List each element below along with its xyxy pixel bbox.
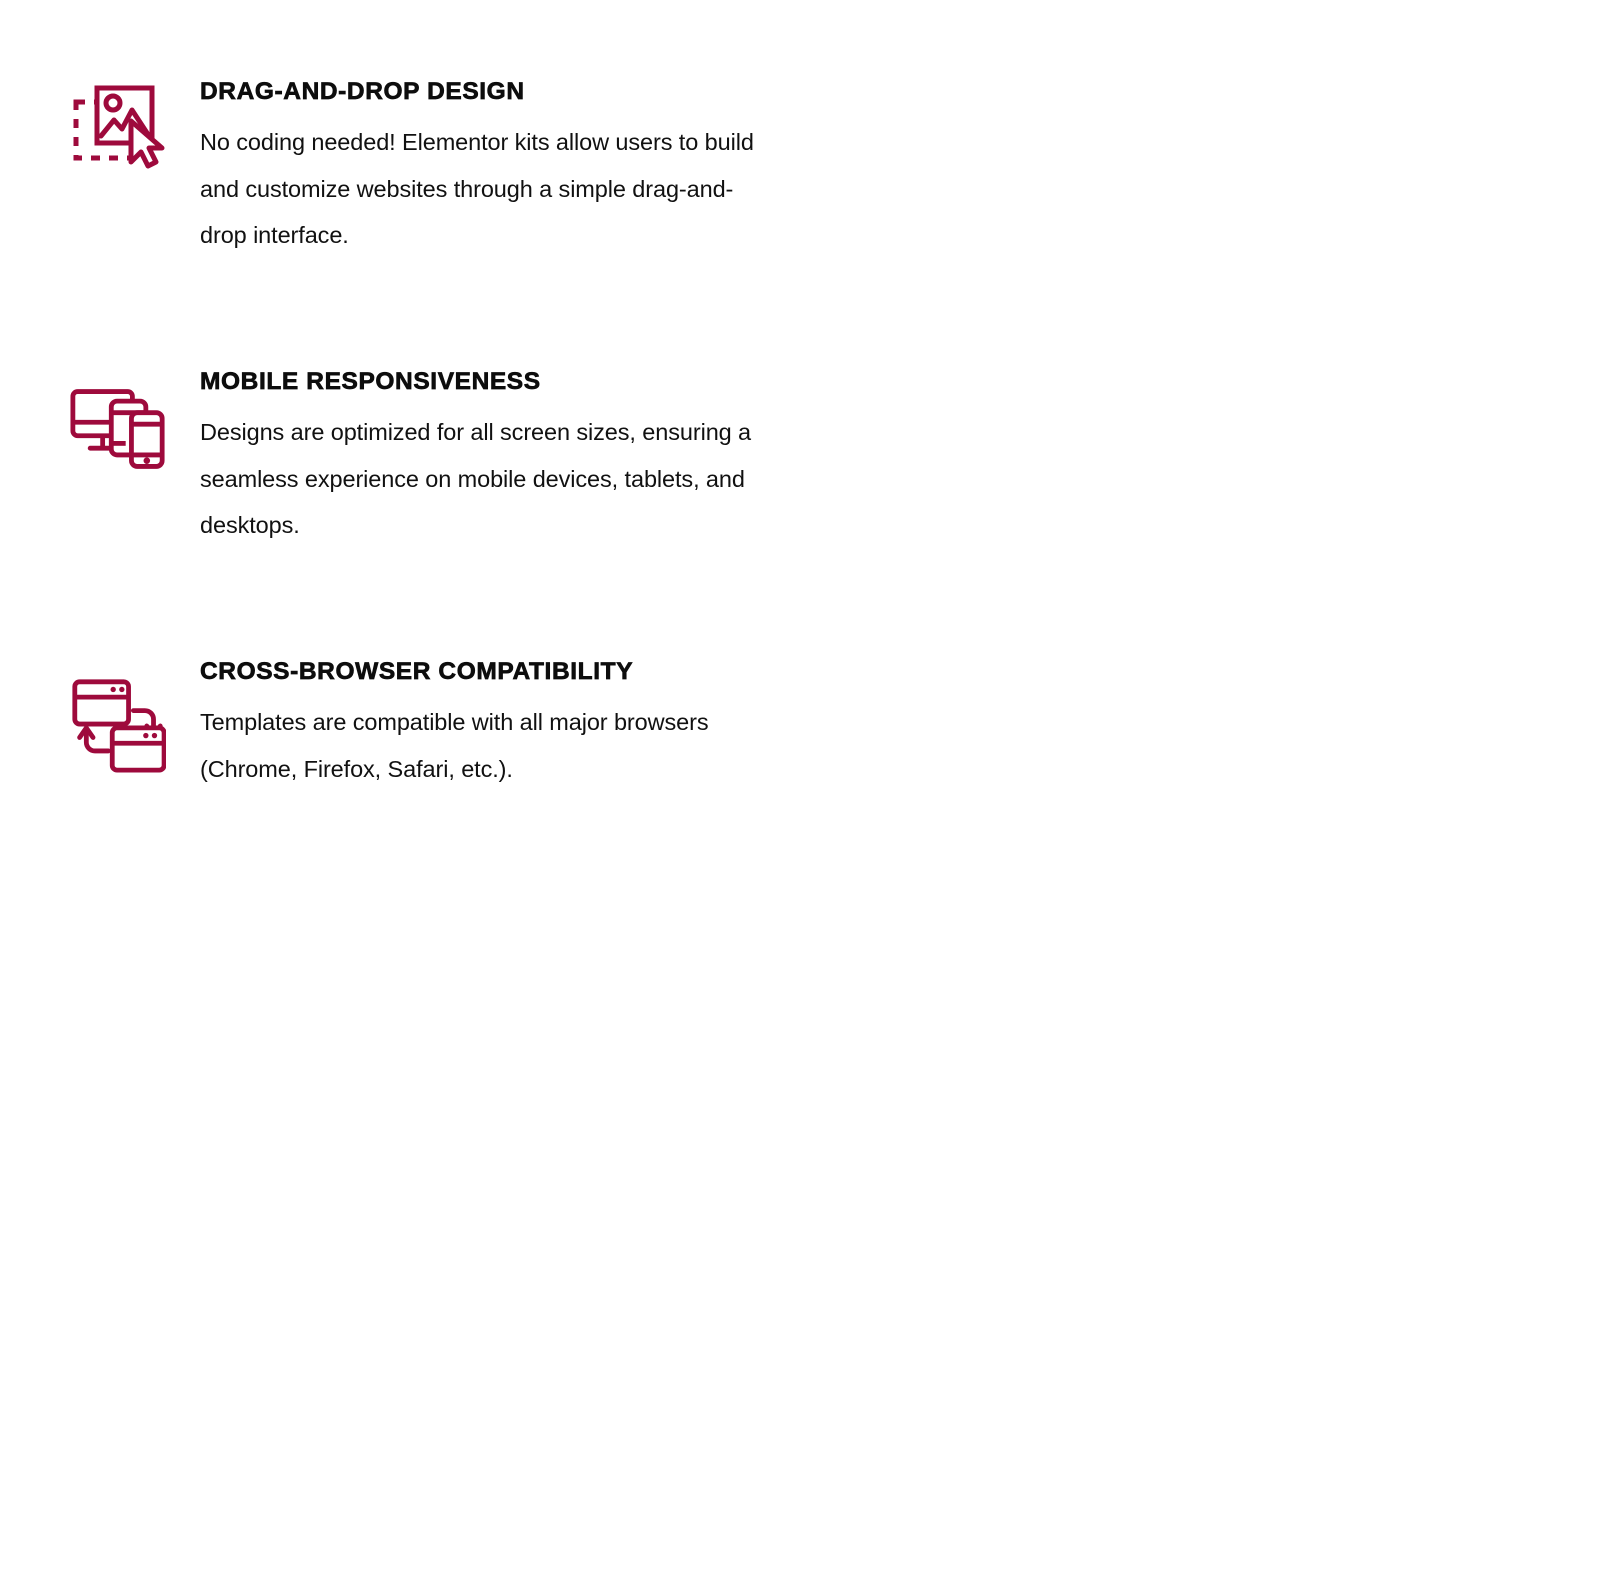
feature-title: CROSS-BROWSER COMPATIBILITY xyxy=(200,658,776,685)
feature-description: Designs are optimized for all screen siz… xyxy=(200,409,776,548)
feature-description: Templates are compatible with all major … xyxy=(200,699,776,792)
features-grid: DRAG-AND-DROP DESIGN No coding needed! E… xyxy=(0,0,1600,1000)
feature-card-customizable-layouts: CUSTOMIZABLE LAYOUTS Users can easily ch… xyxy=(800,78,1600,368)
feature-card-cross-browser-compatibility: CROSS-BROWSER COMPATIBILITY Templates ar… xyxy=(0,658,800,948)
feature-title: DRAG-AND-DROP DESIGN xyxy=(200,78,776,105)
feature-card-drag-and-drop-design: DRAG-AND-DROP DESIGN No coding needed! E… xyxy=(0,78,800,368)
feature-text-block: DRAG-AND-DROP DESIGN No coding needed! E… xyxy=(200,78,776,258)
feature-title: MOBILE RESPONSIVENESS xyxy=(200,368,776,395)
feature-description: No coding needed! Elementor kits allow u… xyxy=(200,119,776,258)
feature-card-mobile-responsiveness: MOBILE RESPONSIVENESS Designs are optimi… xyxy=(0,368,800,658)
feature-text-block: CROSS-BROWSER COMPATIBILITY Templates ar… xyxy=(200,658,776,792)
responsive-devices-icon xyxy=(70,386,166,482)
feature-card-one-click-import: ONE-CLICK IMPORT Quickly import the enti… xyxy=(800,658,1600,948)
feature-card-pre-built-pages: PRE-BUILT PAGES Common pages are already… xyxy=(800,368,1600,658)
feature-text-block: MOBILE RESPONSIVENESS Designs are optimi… xyxy=(200,368,776,548)
cross-browser-sync-icon xyxy=(70,676,166,772)
image-drag-drop-cursor-icon xyxy=(70,84,166,180)
